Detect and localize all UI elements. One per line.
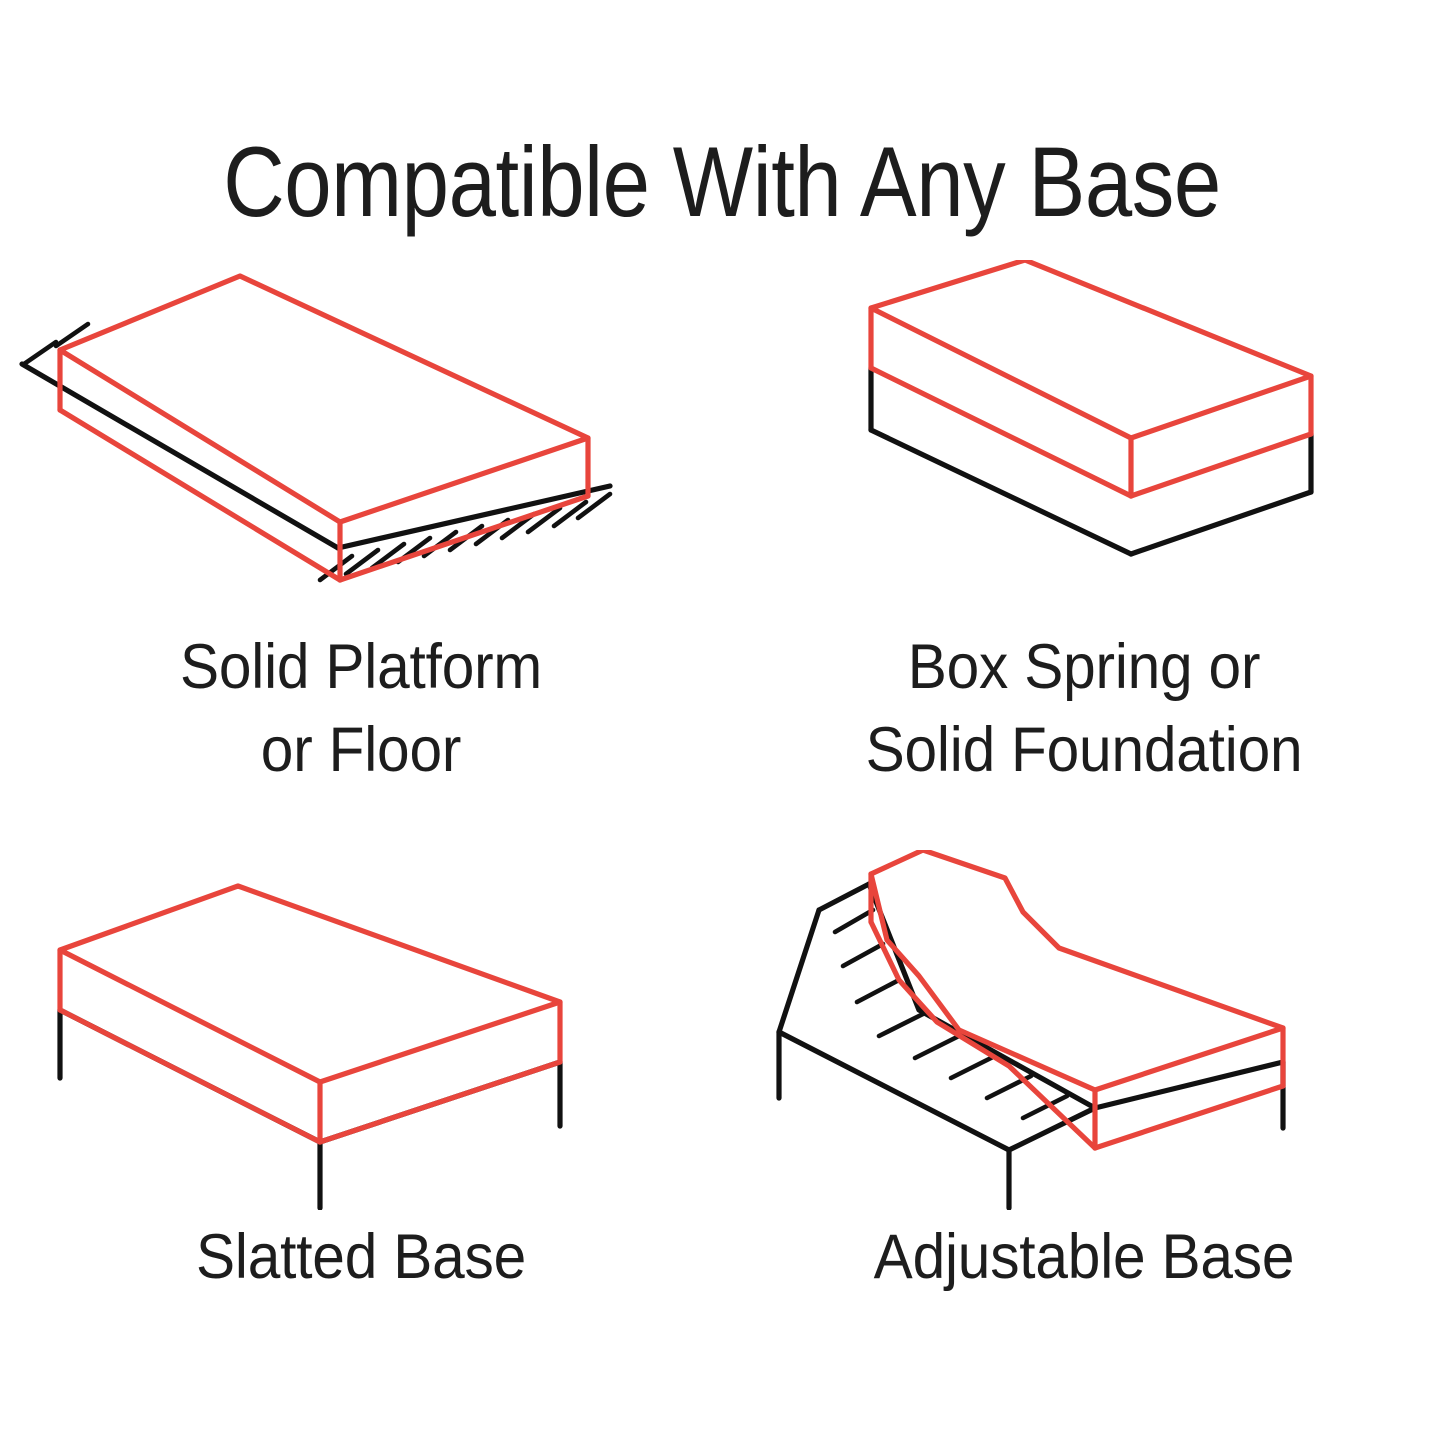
caption-line-1: Slatted Base xyxy=(25,1216,696,1299)
base-card-adjustable-base: Adjustable Base xyxy=(723,850,1445,1410)
base-card-solid-platform-or-floor: Solid Platform or Floor xyxy=(0,260,722,820)
mattress-on-adjustable-base-illustration xyxy=(723,850,1445,1210)
mattress-shape xyxy=(871,850,1283,1148)
adjustable-frame-shape xyxy=(779,884,1283,1208)
base-caption-slatted-base: Slatted Base xyxy=(0,1216,722,1299)
caption-line-1: Adjustable Base xyxy=(748,1216,1419,1299)
mattress-on-slatted-base-illustration xyxy=(0,850,722,1210)
mattress-on-floor-illustration xyxy=(0,260,722,620)
box-spring-shape xyxy=(871,368,1311,554)
caption-line-2: Solid Foundation xyxy=(748,709,1419,792)
caption-line-2: or Floor xyxy=(25,709,696,792)
mattress-shape xyxy=(60,886,560,1142)
base-card-slatted-base: Slatted Base xyxy=(0,850,722,1410)
base-caption-adjustable-base: Adjustable Base xyxy=(723,1216,1445,1299)
base-caption-solid-platform-or-floor: Solid Platform or Floor xyxy=(0,626,722,792)
compatible-bases-infographic: Compatible With Any Base xyxy=(0,0,1445,1445)
mattress-on-box-spring-illustration xyxy=(723,260,1445,620)
base-caption-box-spring-or-solid-foundation: Box Spring or Solid Foundation xyxy=(723,626,1445,792)
floor-hatch-icon xyxy=(22,324,610,580)
page-title: Compatible With Any Base xyxy=(224,132,1222,231)
slatted-frame-legs xyxy=(60,1010,560,1208)
caption-line-1: Solid Platform xyxy=(25,626,696,709)
base-card-box-spring-or-solid-foundation: Box Spring or Solid Foundation xyxy=(723,260,1445,820)
caption-line-1: Box Spring or xyxy=(748,626,1419,709)
